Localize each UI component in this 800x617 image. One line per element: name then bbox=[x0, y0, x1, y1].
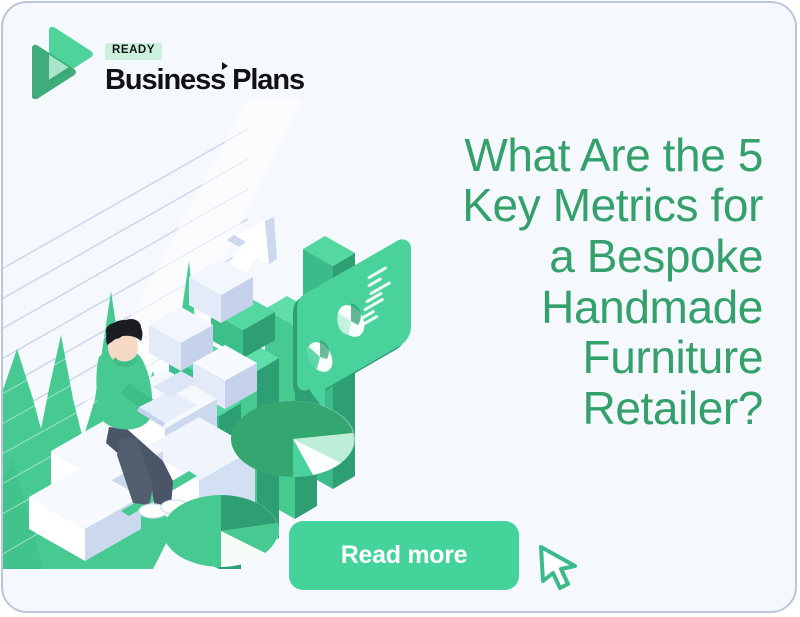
seated-person-with-laptop-icon bbox=[96, 319, 199, 518]
mouse-pointer-icon bbox=[535, 543, 581, 593]
headline-line-5: Furniture bbox=[393, 332, 763, 383]
green-spiky-area-chart-icon bbox=[3, 261, 208, 569]
pie-chart-large-icon bbox=[231, 401, 355, 477]
diagonal-guide-lines-icon bbox=[3, 129, 248, 484]
play-accent-icon bbox=[222, 62, 228, 70]
headline-line-3: a Bespoke bbox=[393, 231, 763, 282]
floor-highlight-icon bbox=[43, 99, 303, 479]
brand-lockup[interactable]: READY Business Plans bbox=[29, 27, 304, 99]
upward-arrow-icon bbox=[183, 217, 277, 355]
read-more-button[interactable]: Read more bbox=[289, 521, 519, 590]
play-triangle-logo-icon bbox=[29, 27, 95, 99]
headline-line-4: Handmade bbox=[393, 282, 763, 333]
cta-group: Read more bbox=[289, 517, 581, 593]
headline-line-2: Key Metrics for bbox=[393, 180, 763, 231]
ready-badge: READY bbox=[105, 43, 162, 60]
wordmark-text: Business Plans bbox=[105, 64, 304, 96]
green-baseline-icon bbox=[121, 471, 197, 516]
ad-card: READY Business Plans What Are the 5 Key … bbox=[1, 1, 797, 613]
page-title: What Are the 5 Key Metrics for a Bespoke… bbox=[393, 130, 763, 434]
brand-wordmark: Business Plans bbox=[105, 65, 304, 95]
headline-line-1: What Are the 5 bbox=[393, 130, 763, 181]
pie-chart-small-icon bbox=[163, 495, 279, 567]
isometric-cubes-icon bbox=[29, 259, 275, 561]
brand-text-block: READY Business Plans bbox=[105, 27, 304, 95]
headline-line-6: Retailer? bbox=[393, 383, 763, 434]
